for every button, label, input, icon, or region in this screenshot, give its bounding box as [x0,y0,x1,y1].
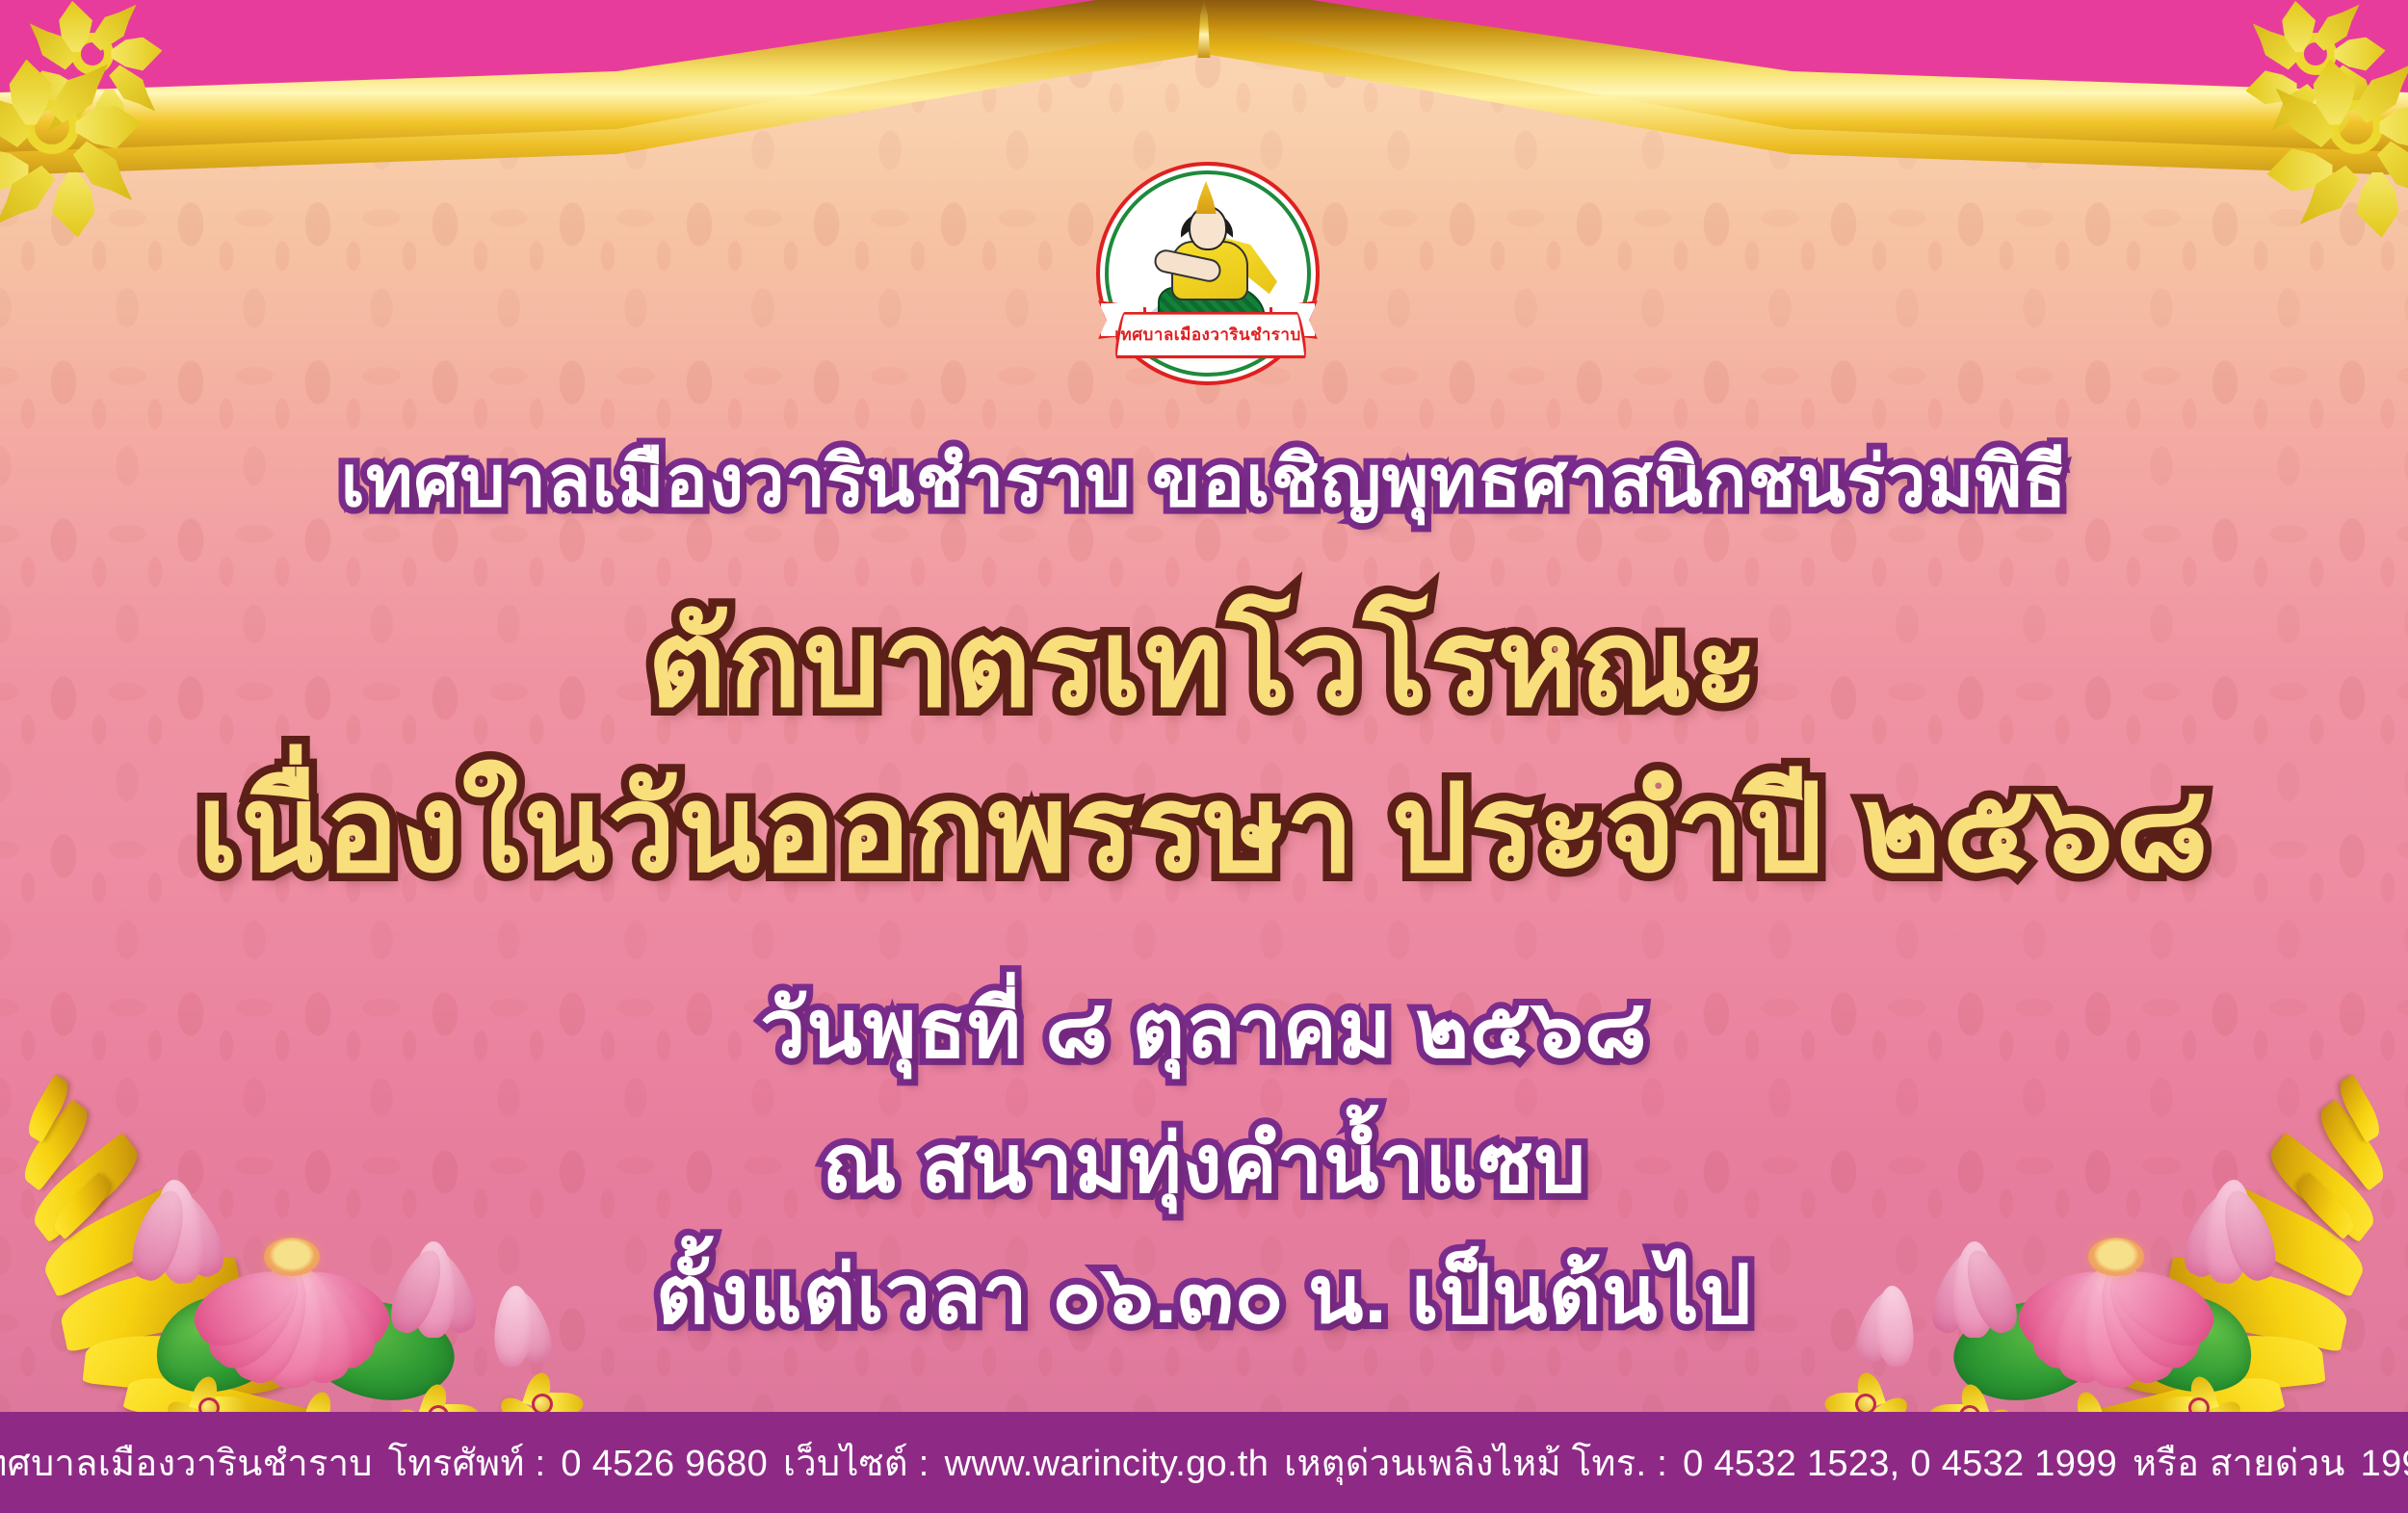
event-title-line1: ตักบาตรเทโวโรหณะ [0,566,2408,759]
footer-contact-bar: เทศบาลเมืองวารินชำราบโทรศัพท์ :0 4526 96… [0,1412,2408,1513]
thai-floral-medallion-icon [0,56,123,198]
footer-website-label: เว็บไซต์ : [783,1444,929,1484]
event-time: ตั้งแต่เวลา ๐๖.๓๐ น. เป็นต้นไป [0,1229,2408,1358]
footer-contact-text: เทศบาลเมืองวารินชำราบโทรศัพท์ :0 4526 96… [0,1433,2408,1492]
headline-invitation: เทศบาลเมืองวารินชำราบ ขอเชิญพุทธศาสนิกชน… [0,424,2408,537]
footer-phone-label: โทรศัพท์ : [388,1444,546,1484]
emblem-ribbon-text: เทศบาลเมืองวารินชำราบ [1102,322,1314,348]
footer-emergency-numbers: 0 4532 1523, 0 4532 1999 [1683,1444,2117,1484]
event-poster: เทศบาลเมืองวารินชำราบ เทศบาลเมืองวารินชำ… [0,0,2408,1513]
footer-website[interactable]: www.warincity.go.th [945,1444,1269,1484]
event-venue: ณ สนามทุ่งคำน้ำแซบ [0,1098,2408,1227]
footer-hotline: 199 [2361,1444,2408,1484]
footer-org: เทศบาลเมืองวารินชำราบ [0,1444,373,1484]
footer-emergency-label: เหตุด่วนเพลิงไหม้ โทร. : [1284,1444,1667,1484]
footer-phone: 0 4526 9680 [561,1444,768,1484]
event-date: วันพุธที่ ๘ ตุลาคม ๒๕๖๘ [0,963,2408,1092]
event-title-line2: เนื่องในวันออกพรรษา ประจำปี ๒๕๖๘ [0,732,2408,925]
thai-floral-medallion-icon [2285,56,2408,198]
municipality-emblem: เทศบาลเมืองวารินชำราบ [1096,162,1320,385]
emblem-ribbon: เทศบาลเมืองวารินชำราบ [1102,297,1314,366]
footer-hotline-label: หรือ สายด่วน [2133,1444,2345,1484]
